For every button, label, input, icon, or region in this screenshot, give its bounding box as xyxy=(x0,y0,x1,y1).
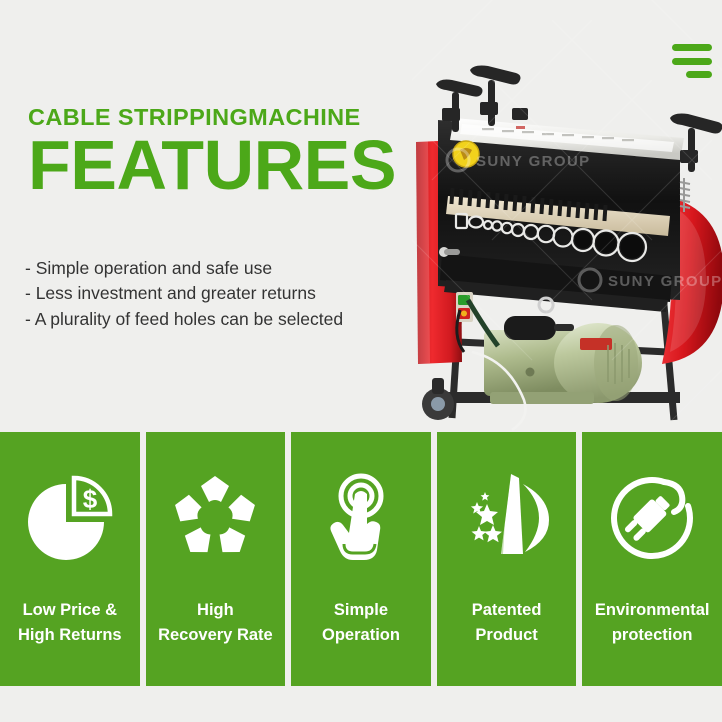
feature-card-label: Patented Product xyxy=(468,598,546,648)
label-line-1: High xyxy=(197,601,234,619)
label-line-2: High Returns xyxy=(18,623,122,648)
feature-card-environmental-protection[interactable]: Environmental protection xyxy=(582,432,722,686)
label-line-2: Product xyxy=(472,623,542,648)
label-line-1: Simple xyxy=(334,601,388,619)
menu-bar-2 xyxy=(672,58,712,65)
feature-card-label: Environmental protection xyxy=(591,598,714,648)
feature-card-patented-product[interactable]: Patented Product xyxy=(437,432,577,686)
label-line-2: Operation xyxy=(322,623,400,648)
label-line-1: Low Price & xyxy=(23,601,117,619)
bullet-item: - Less investment and greater returns xyxy=(25,281,343,306)
feature-card-row: $ Low Price & High Returns xyxy=(0,432,722,686)
power-plug-circle-icon xyxy=(600,466,704,570)
headline-block: CABLE STRIPPINGMACHINE FEATURES xyxy=(28,106,396,197)
hand-tap-icon xyxy=(309,466,413,570)
svg-text:SUNY GROUP: SUNY GROUP xyxy=(608,273,722,290)
feature-bullet-list: - Simple operation and safe use - Less i… xyxy=(25,256,343,332)
recycle-arrows-icon xyxy=(163,466,267,570)
feature-card-simple-operation[interactable]: Simple Operation xyxy=(291,432,431,686)
pie-chart-dollar-icon: $ xyxy=(18,466,122,570)
label-line-1: Environmental xyxy=(595,601,710,619)
menu-bar-3 xyxy=(686,71,712,78)
hamburger-align-right-icon[interactable] xyxy=(670,44,712,78)
patent-star-monogram-icon xyxy=(455,466,559,570)
feature-card-label: High Recovery Rate xyxy=(154,598,277,648)
feature-card-label: Low Price & High Returns xyxy=(14,598,126,648)
bullet-item: - Simple operation and safe use xyxy=(25,256,343,281)
menu-bar-1 xyxy=(672,44,712,51)
feature-card-low-price[interactable]: $ Low Price & High Returns xyxy=(0,432,140,686)
label-line-1: Patented xyxy=(472,601,542,619)
label-line-2: Recovery Rate xyxy=(158,623,273,648)
label-line-2: protection xyxy=(595,623,710,648)
promo-banner: SUNY GROUP SUNY GROUP CABLE STRIPPINGMAC… xyxy=(0,0,722,722)
feature-card-recovery-rate[interactable]: High Recovery Rate xyxy=(146,432,286,686)
svg-text:$: $ xyxy=(83,484,98,514)
page-title: FEATURES xyxy=(28,133,396,197)
feature-card-label: Simple Operation xyxy=(318,598,404,648)
bullet-item: - A plurality of feed holes can be selec… xyxy=(25,307,343,332)
